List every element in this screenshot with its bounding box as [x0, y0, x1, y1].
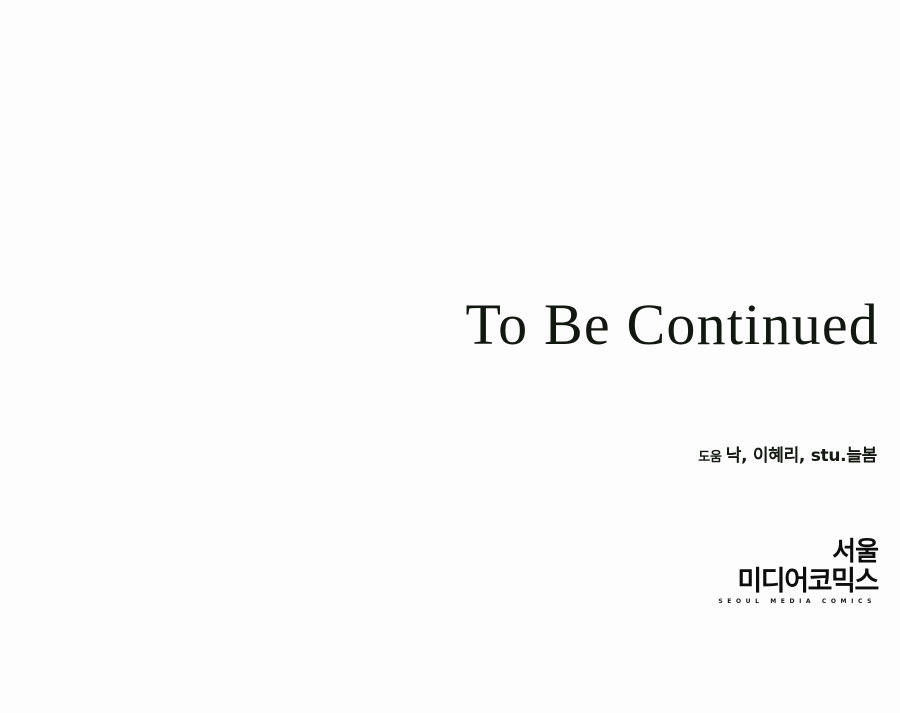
credits-names: 낙, 이혜리, stu.늘봄 — [726, 446, 877, 466]
credits-role-label: 도움 — [698, 450, 722, 465]
publisher-logo-line-main: 미디어코믹스 — [0, 568, 878, 596]
publisher-logo: 서울 미디어코믹스 SEOUL MEDIA COMICS — [0, 538, 878, 605]
publisher-logo-line-sub: SEOUL MEDIA COMICS — [0, 599, 876, 605]
credits-line: 도움낙, 이혜리, stu.늘봄 — [0, 448, 877, 465]
comic-end-page: To Be Continued 도움낙, 이혜리, stu.늘봄 서울 미디어코… — [0, 0, 900, 713]
publisher-logo-line-top: 서울 — [0, 538, 878, 566]
to-be-continued-title: To Be Continued — [0, 296, 879, 354]
